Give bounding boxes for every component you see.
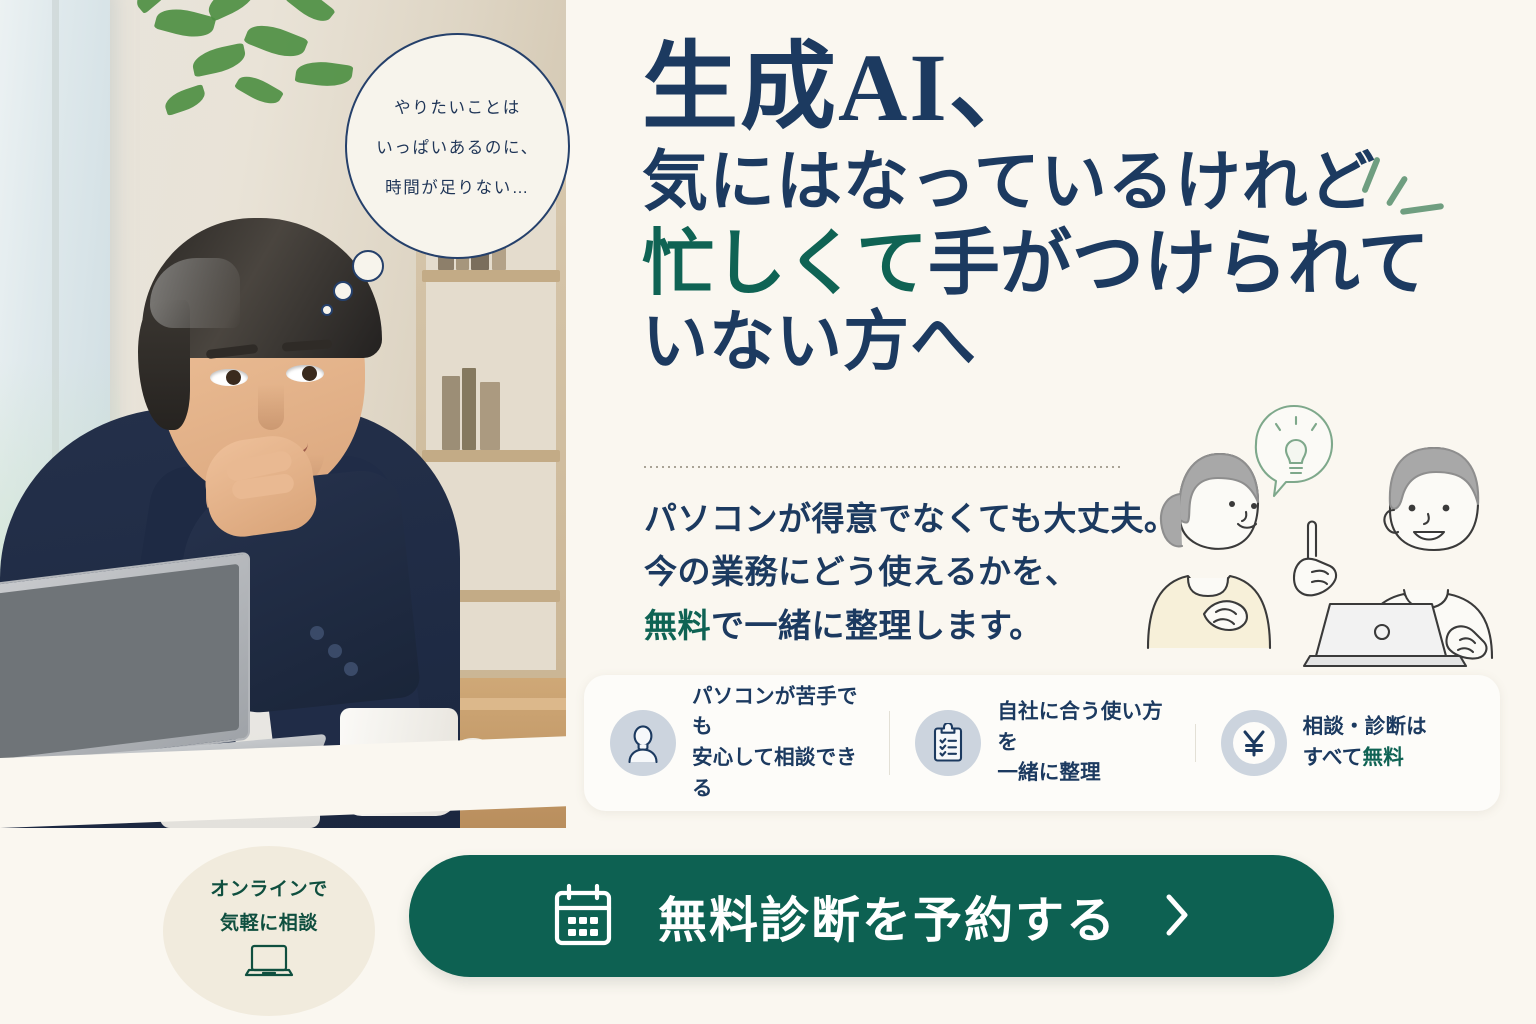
subheading-line-3: 無料で一緒に整理します。 <box>644 599 1177 652</box>
thought-dot-medium <box>333 281 353 301</box>
feature-3-line-2: すべて無料 <box>1303 743 1427 774</box>
thought-dot-large <box>352 250 384 282</box>
book-free-diagnosis-button[interactable]: 無料診断を予約する <box>409 855 1334 977</box>
headline-line-1: 生成AI、 <box>642 40 1482 136</box>
hero-banner: やりたいことは いっぱいあるのに、 時間が足りない… 生成AI、 気にはなってい… <box>0 0 1536 1024</box>
feature-2-line-2: 一緒に整理 <box>997 758 1178 789</box>
online-badge-line-1: オンラインで <box>210 874 328 901</box>
yen-icon <box>1221 710 1287 776</box>
sparkle-icon <box>1350 148 1460 238</box>
subheading-emphasis: 無料 <box>644 607 711 644</box>
subheading-line-3-rest: で一緒に整理します。 <box>711 607 1043 644</box>
thought-line-2: いっぱいあるのに、 <box>376 134 538 158</box>
subheading-line-1: パソコンが得意でなくても大丈夫。 <box>644 492 1177 545</box>
clipboard-check-icon <box>915 710 981 776</box>
subheading: パソコンが得意でなくても大丈夫。 今の業務にどう使えるかを、 無料で一緒に整理し… <box>644 492 1177 652</box>
online-badge-line-2: 気軽に相談 <box>220 908 318 935</box>
headline-line-4: いない方へ <box>642 310 1482 376</box>
feature-item-3: 相談・診断は すべて無料 <box>1195 710 1500 776</box>
online-consultation-badge: オンラインで 気軽に相談 <box>163 846 375 1016</box>
feature-3-line-1: 相談・診断は <box>1303 712 1427 743</box>
subheading-line-2: 今の業務にどう使えるかを、 <box>644 545 1177 598</box>
thought-line-3: 時間が足りない… <box>385 174 530 198</box>
thought-bubble: やりたいことは いっぱいあるのに、 時間が足りない… <box>345 33 570 259</box>
dotted-divider <box>644 466 1120 468</box>
thought-line-1: やりたいことは <box>394 94 521 118</box>
chevron-right-icon <box>1161 891 1191 942</box>
feature-text-3: 相談・診断は すべて無料 <box>1303 712 1427 774</box>
woman-figure <box>1148 454 1270 648</box>
cta-label: 無料診断を予約する <box>658 881 1117 952</box>
lightbulb-icon <box>1256 406 1332 496</box>
feature-1-line-2: 安心して相談できる <box>692 743 873 805</box>
laptop-icon <box>242 942 296 988</box>
feature-item-2: 自社に合う使い方を 一緒に整理 <box>889 697 1194 789</box>
feature-3-plain: すべて <box>1303 746 1363 769</box>
headline-emphasis: 忙しくて <box>642 224 928 304</box>
feature-text-1: パソコンが苦手でも 安心して相談できる <box>692 682 873 805</box>
headline-line-3: 忙しくて手がつけられて <box>642 228 1482 300</box>
person-icon <box>610 710 676 776</box>
feature-item-1: パソコンが苦手でも 安心して相談できる <box>584 682 889 805</box>
feature-text-2: 自社に合う使い方を 一緒に整理 <box>997 697 1178 789</box>
feature-1-line-1: パソコンが苦手でも <box>692 682 873 744</box>
feature-card-panel: パソコンが苦手でも 安心して相談できる 自社に合う使い方を 一緒 <box>584 675 1500 811</box>
calendar-icon <box>552 882 614 951</box>
two-people-consulting-illustration <box>1120 400 1536 680</box>
feature-3-emphasis: 無料 <box>1363 746 1404 769</box>
thought-dot-small <box>321 304 333 316</box>
feature-2-line-1: 自社に合う使い方を <box>997 697 1178 759</box>
man-figure <box>1294 448 1492 666</box>
